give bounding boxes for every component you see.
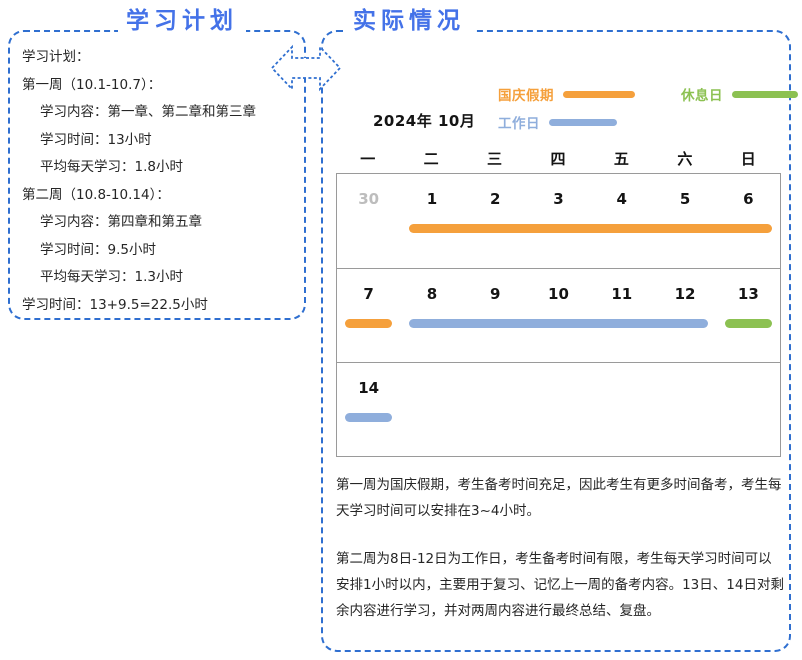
note-paragraph: 第一周为国庆假期，考生备考时间充足，因此考生有更多时间备考，考生每天学习时间可以… [336, 472, 784, 524]
day-number: 6 [717, 190, 780, 208]
weekday-header: 一 [336, 148, 399, 169]
actual-situation-panel: 2024年 10月 国庆假期 休息日 工作日 一二三四五六日 301234567… [321, 30, 791, 652]
day-number: 12 [653, 285, 716, 303]
calendar-day-cell[interactable]: 3 [527, 174, 590, 268]
calendar-day-cell[interactable]: 9 [464, 269, 527, 363]
calendar-day-cell[interactable] [400, 363, 463, 458]
calendar-day-cell[interactable]: 11 [590, 269, 653, 363]
day-number: 11 [590, 285, 653, 303]
weekday-header: 日 [717, 148, 780, 169]
plan-line: 第二周（10.8-10.14）： [22, 182, 288, 210]
calendar-week-row: 78910111213 [337, 269, 780, 364]
calendar-day-cell[interactable]: 1 [400, 174, 463, 268]
calendar-day-cell[interactable]: 10 [527, 269, 590, 363]
day-number: 8 [400, 285, 463, 303]
plan-line: 平均每天学习：1.3小时 [22, 264, 288, 292]
weekday-header: 六 [653, 148, 716, 169]
legend-row-2: 工作日 [498, 108, 783, 136]
plan-line: 学习内容：第四章和第五章 [22, 209, 288, 237]
legend-item-holiday: 国庆假期 [498, 84, 635, 104]
study-plan-title: 学习计划 [118, 10, 246, 33]
plan-line: 学习内容：第一章、第二章和第三章 [22, 99, 288, 127]
double-left-right-arrow-icon [270, 33, 342, 103]
calendar-day-cell[interactable]: 6 [717, 174, 780, 268]
calendar-day-cell[interactable] [590, 363, 653, 458]
plan-line: 学习时间：13小时 [22, 127, 288, 155]
weekday-header-row: 一二三四五六日 [336, 148, 780, 169]
calendar-day-cell[interactable]: 13 [717, 269, 780, 363]
notes-section: 第一周为国庆假期，考生备考时间充足，因此考生有更多时间备考，考生每天学习时间可以… [336, 472, 784, 624]
weekday-header: 五 [590, 148, 653, 169]
calendar-day-cell[interactable]: 12 [653, 269, 716, 363]
day-number: 4 [590, 190, 653, 208]
note-paragraph: 第二周为8日-12日为工作日，考生备考时间有限，考生每天学习时间可以安排1小时以… [336, 546, 784, 624]
day-number: 13 [717, 285, 780, 303]
calendar-week-row: 30123456 [337, 174, 780, 269]
day-number: 30 [337, 190, 400, 208]
calendar-day-cell[interactable] [527, 363, 590, 458]
day-number: 2 [464, 190, 527, 208]
legend-swatch-holiday [563, 91, 635, 98]
calendar-grid: 301234567891011121314 [336, 173, 781, 457]
month-label: 2024年 10月 [373, 110, 475, 131]
day-number: 9 [464, 285, 527, 303]
weekday-header: 四 [526, 148, 589, 169]
calendar-day-cell[interactable]: 5 [653, 174, 716, 268]
calendar-day-cell[interactable]: 14 [337, 363, 400, 458]
calendar-day-cell[interactable] [653, 363, 716, 458]
legend-label-work: 工作日 [498, 112, 540, 132]
calendar-day-cell[interactable]: 8 [400, 269, 463, 363]
calendar-day-cell[interactable]: 4 [590, 174, 653, 268]
legend-item-work: 工作日 [498, 112, 617, 132]
plan-line: 学习时间：13+9.5=22.5小时 [22, 292, 288, 320]
plan-line: 学习时间：9.5小时 [22, 237, 288, 265]
calendar-day-cell[interactable]: 30 [337, 174, 400, 268]
legend-row-1: 国庆假期 休息日 [498, 80, 783, 108]
calendar-day-cell[interactable]: 2 [464, 174, 527, 268]
legend-label-rest: 休息日 [681, 84, 723, 104]
calendar-legend: 国庆假期 休息日 工作日 [498, 80, 783, 136]
calendar-day-cell[interactable] [717, 363, 780, 458]
day-number: 14 [337, 379, 400, 397]
plan-line: 第一周（10.1-10.7）： [22, 72, 288, 100]
weekday-header: 三 [463, 148, 526, 169]
plan-line: 学习计划： [22, 44, 288, 72]
calendar-day-cell[interactable] [464, 363, 527, 458]
legend-item-rest: 休息日 [681, 84, 798, 104]
day-number: 7 [337, 285, 400, 303]
study-plan-text: 学习计划：第一周（10.1-10.7）：学习内容：第一章、第二章和第三章学习时间… [22, 44, 288, 319]
weekday-header: 二 [399, 148, 462, 169]
plan-line: 平均每天学习：1.8小时 [22, 154, 288, 182]
day-number: 3 [527, 190, 590, 208]
day-number: 5 [653, 190, 716, 208]
calendar-week-row: 14 [337, 363, 780, 458]
calendar-day-cell[interactable]: 7 [337, 269, 400, 363]
legend-swatch-rest [732, 91, 798, 98]
legend-label-holiday: 国庆假期 [498, 84, 554, 104]
actual-situation-title: 实际情况 [345, 10, 473, 33]
day-number: 10 [527, 285, 590, 303]
legend-swatch-work [549, 119, 617, 126]
day-number: 1 [400, 190, 463, 208]
